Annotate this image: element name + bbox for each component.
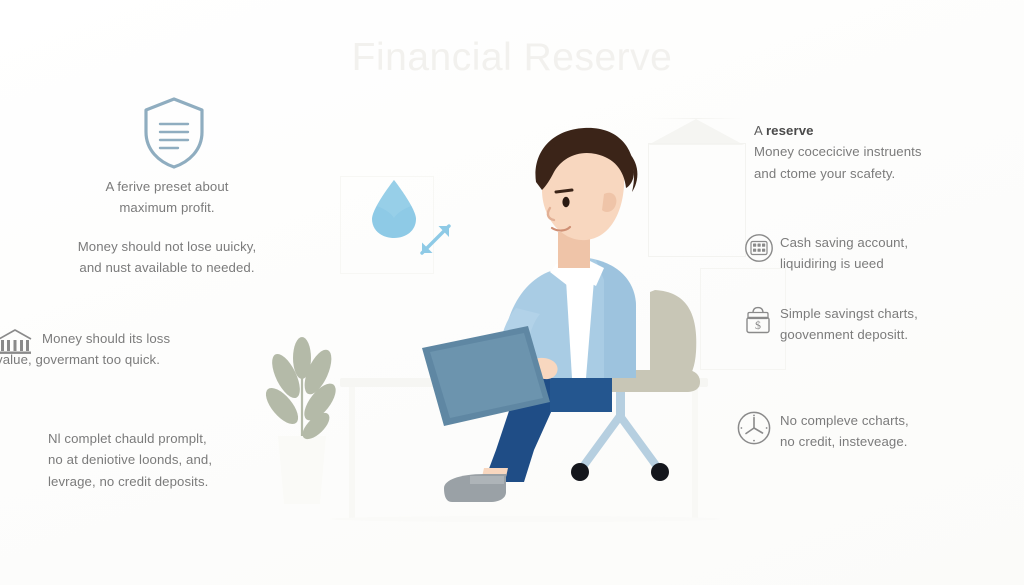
left-block-liquidity-text: Money should not lose uuicky, and nust a…	[42, 236, 292, 279]
bank-icon	[0, 328, 34, 356]
text-line: and ctome your scafety.	[754, 163, 1024, 184]
right-block-cash-text: Cash saving account, liquidiring is ueed	[780, 232, 1024, 275]
text-line: liquidiring is ueed	[780, 253, 1024, 274]
page-title: Financial Reserve	[0, 36, 1024, 80]
text-line: A ferive preset about	[42, 176, 292, 197]
left-block-shield-text: A ferive preset about maximum profit.	[42, 176, 292, 219]
potted-plant-illustration	[252, 318, 352, 508]
man-reading-tablet-illustration	[400, 120, 730, 520]
infographic-canvas: Financial Reserve A ferive preset about …	[0, 0, 1024, 585]
text-line: value, govermant too quick.	[0, 349, 294, 370]
calculator-circle-icon	[744, 233, 774, 263]
desk-leg-left	[349, 387, 355, 519]
text-line: Money cocecicive instruents	[754, 141, 1024, 162]
text-line: and nust available to needed.	[42, 257, 292, 278]
text-line: No compleve ccharts,	[780, 410, 1024, 431]
right-block-reserve-text: A reserve Money cocecicive instruents an…	[754, 120, 1024, 184]
right-block-time-text: No compleve ccharts, no credit, instevea…	[780, 410, 1024, 453]
text-line: no credit, insteveage.	[780, 431, 1024, 452]
svg-text:$: $	[755, 318, 761, 332]
clock-icon	[736, 410, 772, 446]
reserve-heading: A reserve	[754, 120, 1024, 141]
text-line: Simple savingst charts,	[780, 303, 1024, 324]
text-line: Cash saving account,	[780, 232, 1024, 253]
text-line: maximum profit.	[42, 197, 292, 218]
text-line: goovenment depositt.	[780, 324, 1024, 345]
right-block-savings-text: $ Simple savingst charts, goovenment dep…	[780, 303, 1024, 346]
shield-icon	[141, 96, 207, 170]
money-safe-icon: $	[744, 305, 772, 335]
text-line: Money should not lose uuicky,	[42, 236, 292, 257]
heading-bold: reserve	[766, 123, 814, 138]
heading-prefix: A	[754, 123, 766, 138]
